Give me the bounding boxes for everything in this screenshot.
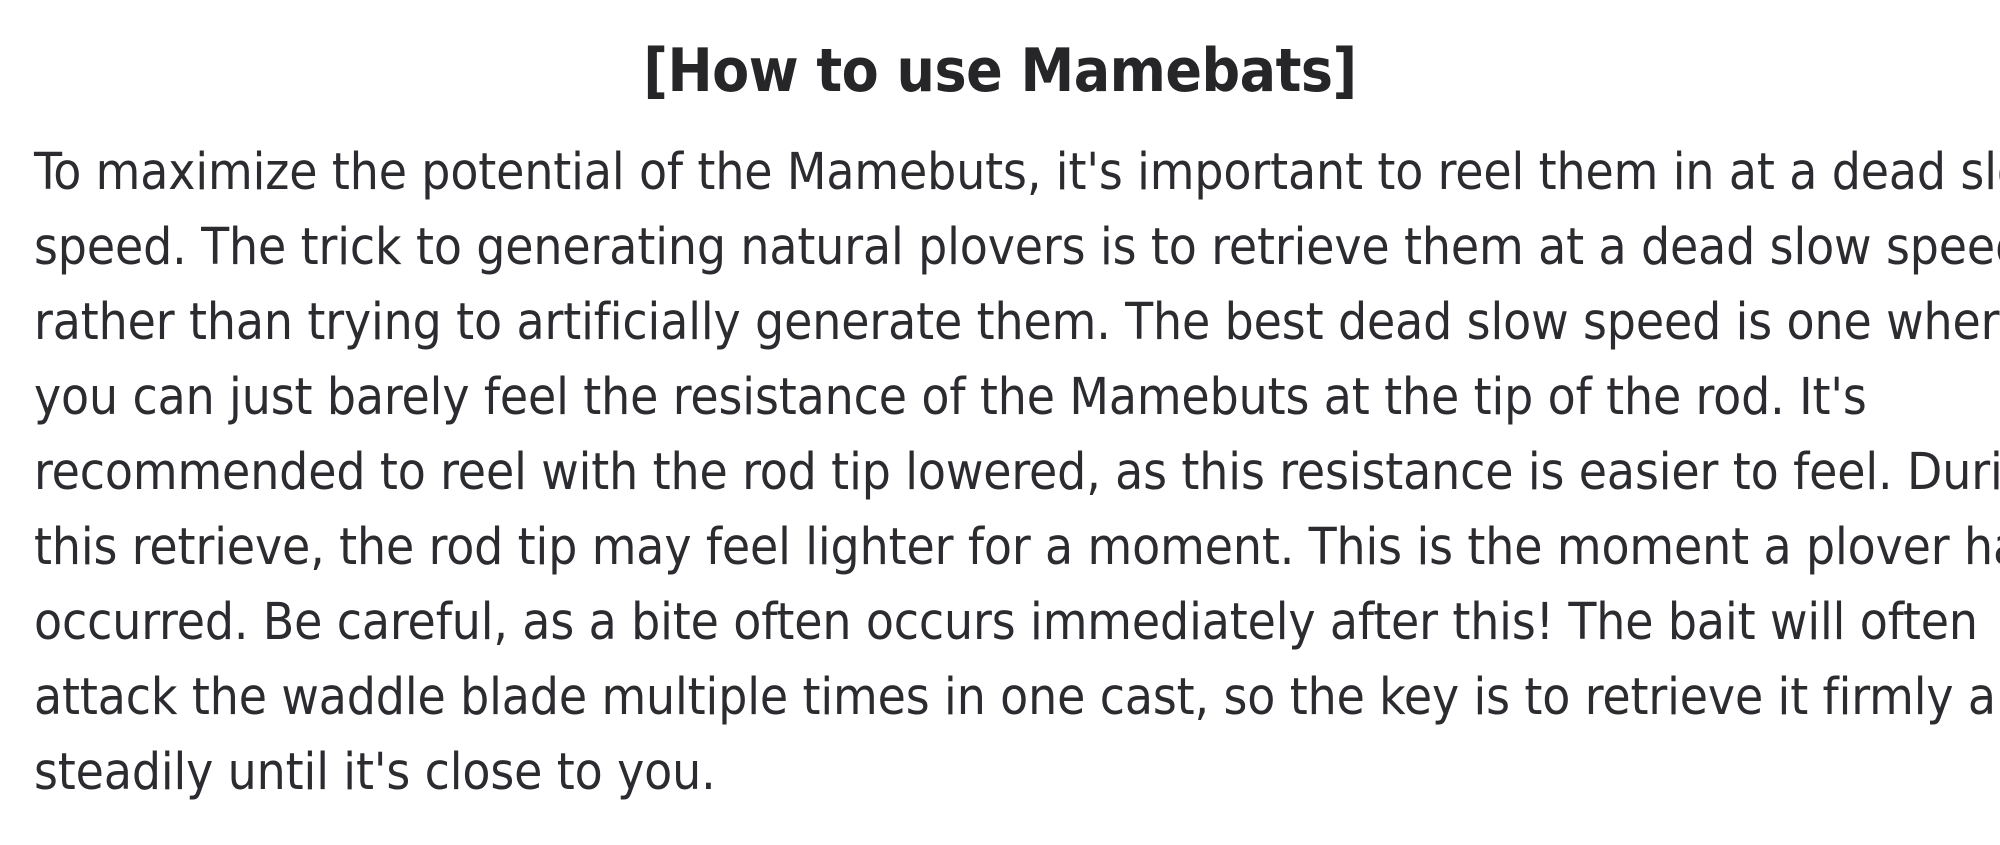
body-line: recommended to reel with the rod tip low… [34,435,1966,510]
body-text-block: To maximize the potential of the Mamebut… [34,135,1966,810]
body-line: attack the waddle blade multiple times i… [34,660,1966,735]
body-line: steadily until it's close to you. [34,735,1966,810]
body-line: you can just barely feel the resistance … [34,360,1966,435]
body-line: speed. The trick to generating natural p… [34,210,1966,285]
body-line: To maximize the potential of the Mamebut… [34,135,1966,210]
body-line: rather than trying to artificially gener… [34,285,1966,360]
body-line: this retrieve, the rod tip may feel ligh… [34,510,1966,585]
body-line: occurred. Be careful, as a bite often oc… [34,585,1966,660]
page-title: [How to use Mamebats] [34,38,1966,105]
document-page: [How to use Mamebats] To maximize the po… [0,0,2000,845]
